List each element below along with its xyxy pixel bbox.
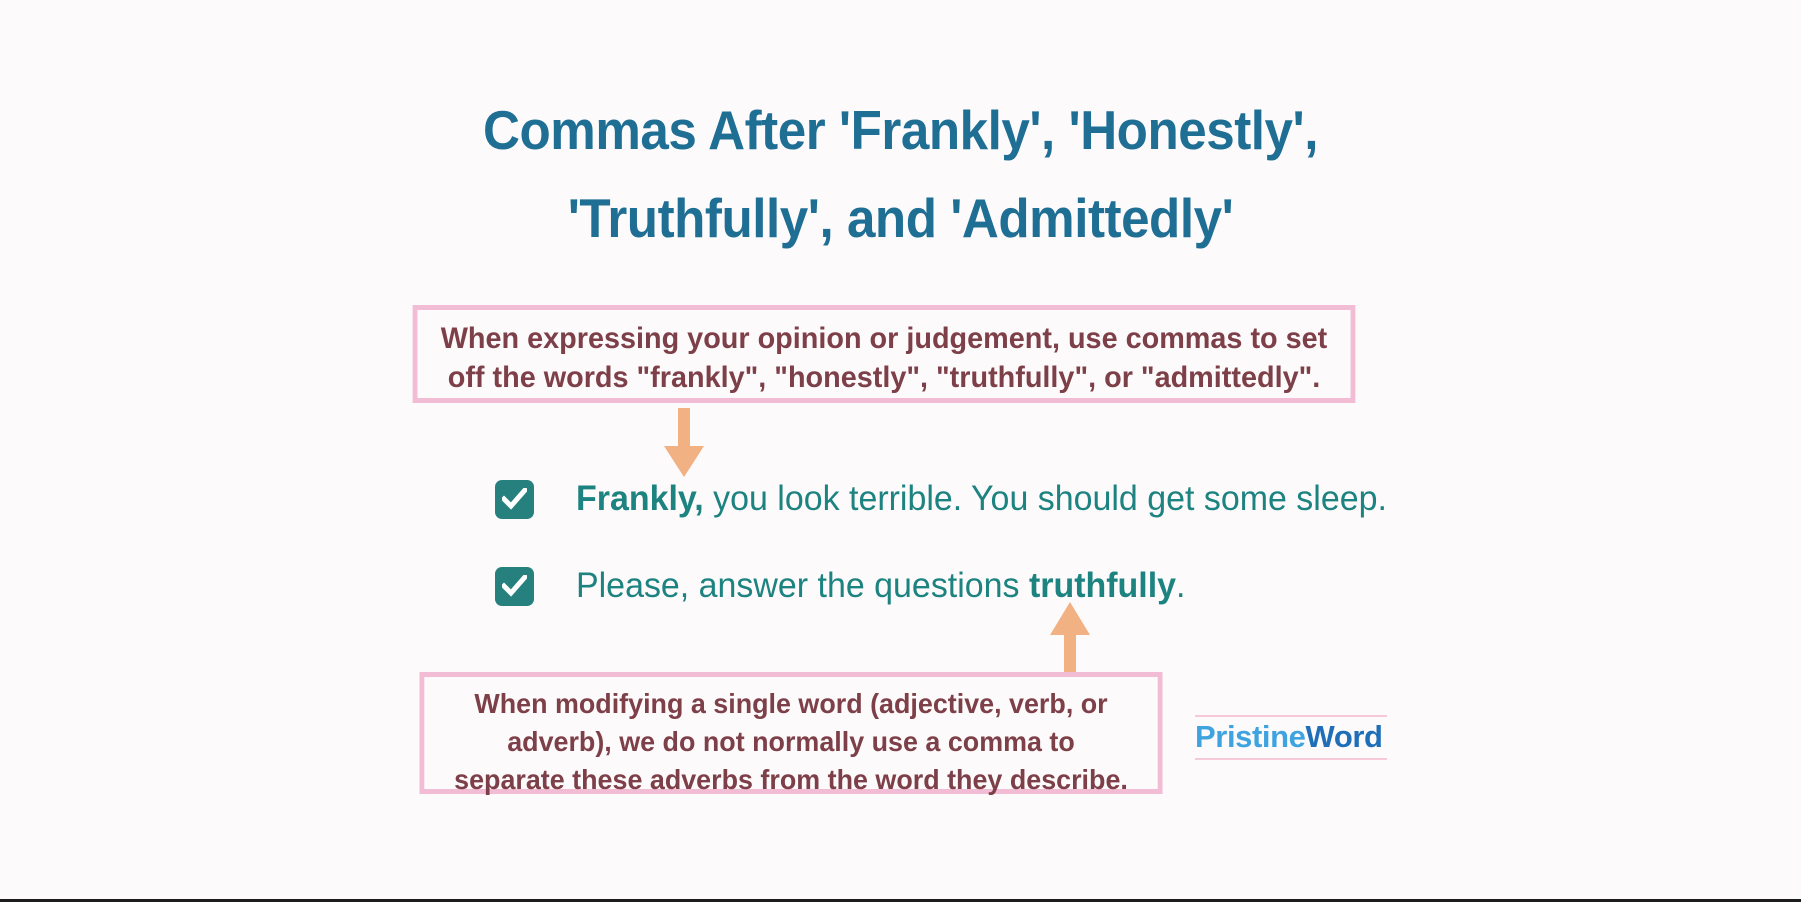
brand-logo[interactable]: PristineWord <box>1195 715 1387 760</box>
rule-box-bottom: When modifying a single word (adjective,… <box>419 672 1162 794</box>
example-truthfully: Please, answer the questions truthfully. <box>495 564 1204 608</box>
example-bold-lead: Frankly, <box>576 479 704 518</box>
checkbox-checked-icon[interactable] <box>495 567 534 606</box>
lesson-canvas: Commas After 'Frankly', 'Honestly', 'Tru… <box>0 0 1801 902</box>
rule-box-top: When expressing your opinion or judgemen… <box>413 305 1356 403</box>
example-text: Frankly, you look terrible. You should g… <box>576 479 1387 519</box>
example-text: Please, answer the questions truthfully. <box>576 566 1185 606</box>
arrow-up-to-truthfully <box>1049 602 1091 680</box>
checkbox-checked-icon[interactable] <box>495 480 534 519</box>
example-bold-tail: truthfully <box>1029 566 1176 605</box>
example-frankly: Frankly, you look terrible. You should g… <box>495 477 1412 521</box>
brand-logo-part-two: Word <box>1306 719 1383 754</box>
example-tail-rest: . <box>1176 566 1185 605</box>
page-title: Commas After 'Frankly', 'Honestly', 'Tru… <box>63 86 1738 262</box>
arrow-down-to-frankly <box>663 408 705 478</box>
example-rest: Please, answer the questions <box>576 566 1029 605</box>
brand-logo-part-one: Pristine <box>1195 719 1306 754</box>
example-rest: you look terrible. You should get some s… <box>704 479 1387 518</box>
